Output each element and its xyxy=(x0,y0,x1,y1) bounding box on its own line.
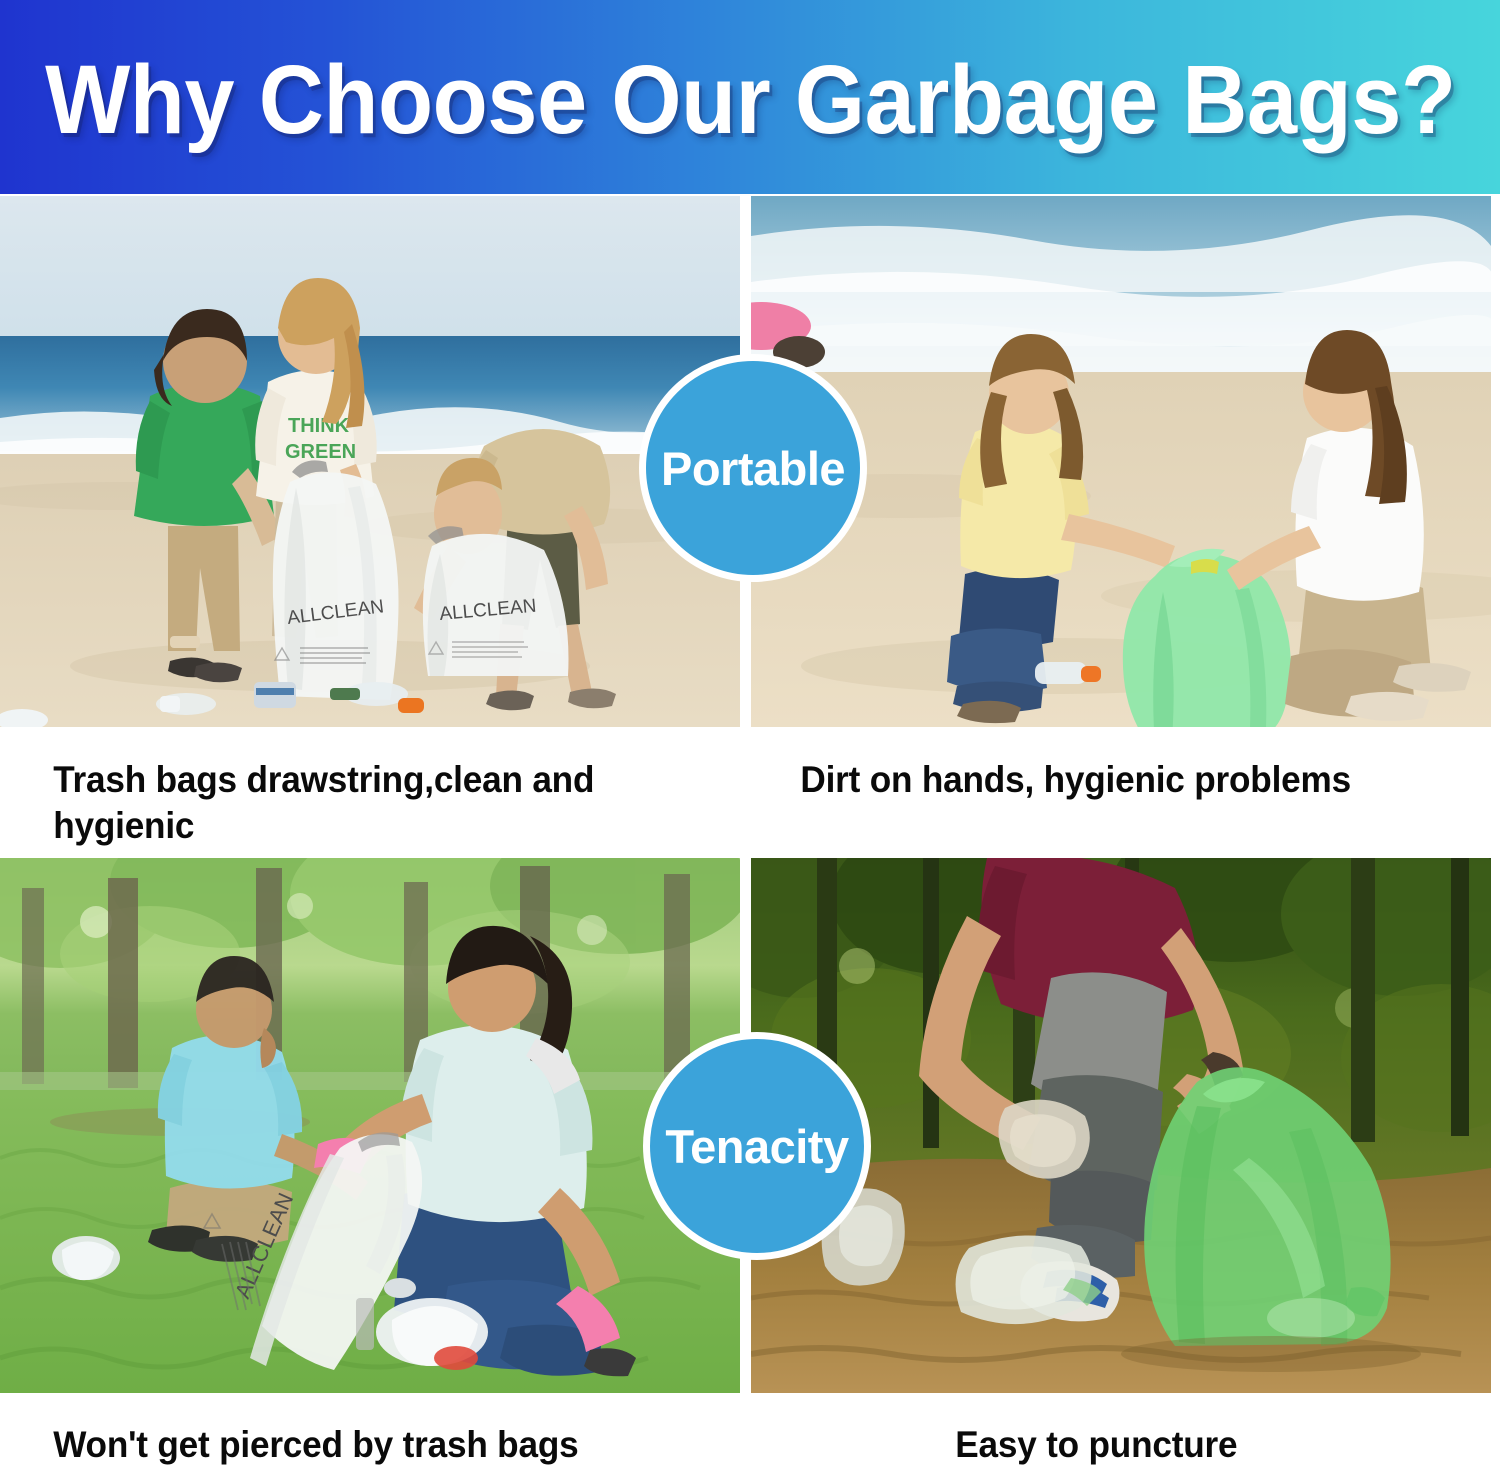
photo-park-woman-drawstring: ALLCLEAN xyxy=(0,858,740,1393)
shirt-text-line1: THINK xyxy=(288,415,350,437)
feature-cell-1: THINK GREEN ALLCLEAN xyxy=(0,196,740,848)
badge-tenacity-label: Tenacity xyxy=(665,1119,848,1174)
photo-beach-kids-drawstring: THINK GREEN ALLCLEAN xyxy=(0,196,740,727)
shirt-text-line2: GREEN xyxy=(285,441,356,463)
badge-portable-label: Portable xyxy=(661,441,845,496)
bag-allclean-1: ALLCLEAN xyxy=(273,460,399,700)
caption-panel-4: Easy to puncture xyxy=(751,1393,1454,1468)
header-banner: Why Choose Our Garbage Bags? xyxy=(0,0,1500,194)
caption-panel-3: Won't get pierced by trash bags xyxy=(0,1393,703,1468)
badge-tenacity: Tenacity xyxy=(643,1032,871,1260)
product-feature-poster: Why Choose Our Garbage Bags? xyxy=(0,0,1500,1456)
page-title: Why Choose Our Garbage Bags? xyxy=(45,51,1456,148)
badge-portable: Portable xyxy=(639,354,867,582)
caption-panel-1: Trash bags drawstring,clean and hygienic xyxy=(0,727,703,848)
feature-cell-3: ALLCLEAN xyxy=(0,858,740,1468)
caption-panel-2: Dirt on hands, hygienic problems xyxy=(751,727,1454,803)
illustration-beach-kids: THINK GREEN ALLCLEAN xyxy=(0,196,740,727)
illustration-park-cleanup: ALLCLEAN xyxy=(0,858,740,1393)
